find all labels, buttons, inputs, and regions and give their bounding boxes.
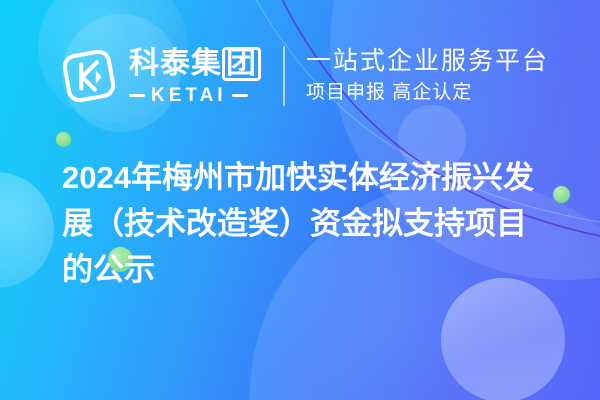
brand-name-en: KETAI (151, 86, 227, 105)
tagline-block: 一站式企业服务平台 项目申报 高企认定 (306, 47, 549, 105)
brand-name-cn: 科泰集团 (129, 47, 261, 82)
brand-name-en-row: KETAI (129, 86, 261, 105)
tagline-main: 一站式企业服务平台 (306, 47, 549, 76)
header-divider (283, 46, 285, 106)
brand-rule-left (129, 94, 145, 97)
brand-wordmark: 科泰集团 KETAI (129, 47, 261, 106)
brand-name-cn-text: 科泰集 (129, 47, 222, 80)
banner-header: 科泰集团 KETAI 一站式企业服务平台 项目申报 高企认定 (0, 30, 600, 122)
brand-name-cn-boxed: 团 (222, 47, 261, 82)
tagline-sub: 项目申报 高企认定 (306, 82, 549, 105)
ketai-logo-icon (58, 45, 120, 107)
announcement-title: 2024年梅州市加快实体经济振兴发展（技术改造奖）资金拟支持项目的公示 (62, 155, 542, 293)
brand-rule-right (232, 94, 248, 97)
brand-lockup: 科泰集团 KETAI (58, 45, 261, 107)
announcement-banner: 科泰集团 KETAI 一站式企业服务平台 项目申报 高企认定 2024年梅州市加… (0, 0, 600, 400)
